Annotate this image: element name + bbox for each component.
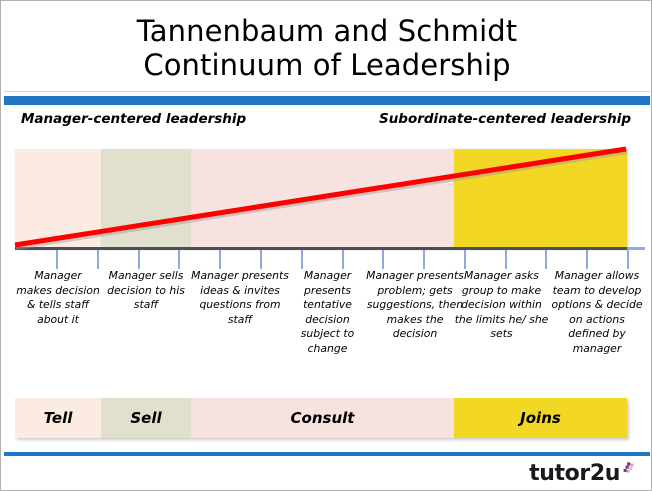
footer: tutor2u bbox=[4, 456, 650, 489]
descriptor-2: Manager sells decision to his staff bbox=[101, 269, 191, 313]
leadership-style-bar: TellSellConsultJoins bbox=[15, 398, 627, 438]
style-cell-sell[interactable]: Sell bbox=[101, 398, 191, 438]
x-axis-line bbox=[15, 247, 627, 250]
axis-tick bbox=[627, 250, 629, 269]
descriptor-row: Manager makes decision & tells staff abo… bbox=[1, 269, 652, 391]
x-axis-extension bbox=[627, 247, 645, 250]
style-cell-tell[interactable]: Tell bbox=[15, 398, 101, 438]
slide-canvas: Tannenbaum and Schmidt Continuum of Lead… bbox=[0, 0, 652, 491]
axis-tick bbox=[97, 250, 99, 269]
accent-rule-top bbox=[4, 96, 650, 105]
continuum-plot bbox=[1, 141, 652, 261]
axis-tick bbox=[505, 250, 507, 269]
axis-tick bbox=[178, 250, 180, 269]
page-title-line-2: Continuum of Leadership bbox=[143, 48, 510, 82]
band-sell bbox=[101, 149, 191, 249]
band-consult bbox=[191, 149, 454, 249]
band-joins bbox=[454, 149, 627, 249]
axis-tick bbox=[382, 250, 384, 269]
title-block: Tannenbaum and Schmidt Continuum of Lead… bbox=[4, 4, 650, 92]
axis-tick bbox=[545, 250, 547, 269]
axis-tick bbox=[301, 250, 303, 269]
axis-tick bbox=[586, 250, 588, 269]
tutor2u-logo[interactable]: tutor2u bbox=[529, 461, 634, 486]
axis-tick bbox=[423, 250, 425, 269]
axis-tick bbox=[138, 250, 140, 269]
descriptor-6: Manager asks group to make decision with… bbox=[454, 269, 549, 342]
caption-manager-centered: Manager-centered leadership bbox=[21, 111, 246, 127]
axis-tick bbox=[56, 250, 58, 269]
caption-row: Manager-centered leadership Subordinate-… bbox=[1, 111, 652, 137]
page-title-line-1: Tannenbaum and Schmidt bbox=[137, 14, 518, 48]
descriptor-3: Manager presents ideas & invites questio… bbox=[191, 269, 289, 327]
axis-tick bbox=[219, 250, 221, 269]
logo-wordmark: tutor2u bbox=[529, 461, 620, 486]
band-tell bbox=[15, 149, 101, 249]
caption-subordinate-centered: Subordinate-centered leadership bbox=[379, 111, 631, 127]
axis-tick bbox=[464, 250, 466, 269]
descriptor-7: Manager allows team to develop options &… bbox=[549, 269, 645, 357]
style-cell-consult[interactable]: Consult bbox=[191, 398, 454, 438]
descriptor-4: Manager presents tentative decision subj… bbox=[289, 269, 366, 357]
pinwheel-icon bbox=[621, 462, 634, 480]
style-cell-joins[interactable]: Joins bbox=[454, 398, 627, 438]
axis-tick bbox=[342, 250, 344, 269]
descriptor-5: Manager presents problem; gets suggestio… bbox=[366, 269, 464, 342]
descriptor-1: Manager makes decision & tells staff abo… bbox=[15, 269, 101, 327]
axis-tick bbox=[260, 250, 262, 269]
